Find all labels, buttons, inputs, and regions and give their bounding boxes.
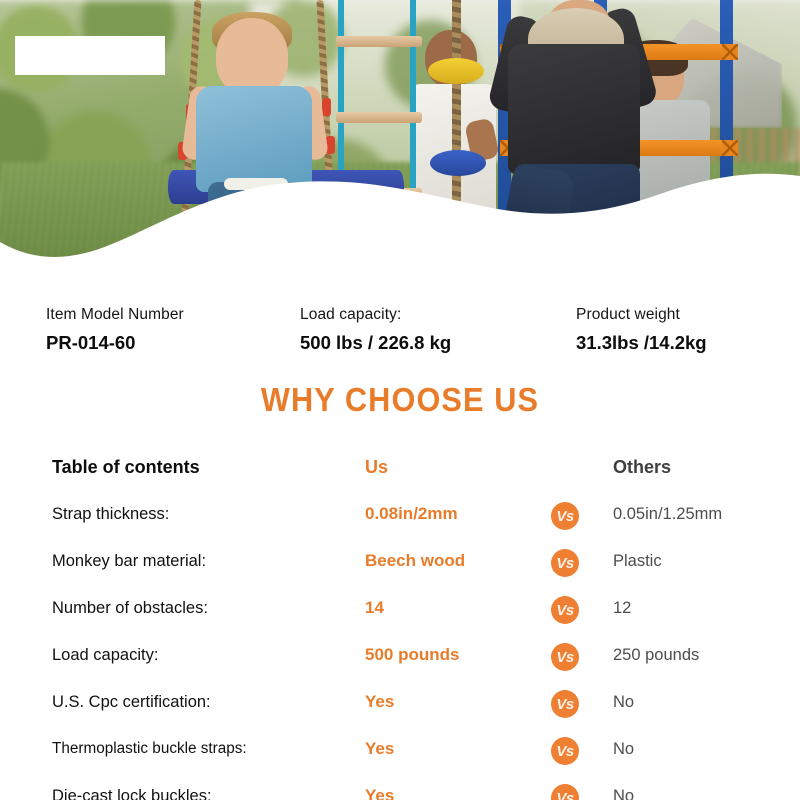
- brand-logo-placeholder: [15, 36, 165, 75]
- vs-badge-label: Vs: [556, 650, 573, 665]
- row-others-value: No: [613, 734, 634, 764]
- spec-summary-row: Item Model Number PR-014-60 Load capacit…: [0, 305, 800, 367]
- row-us-value: Yes: [365, 781, 394, 800]
- hero-product-photo: [0, 0, 800, 272]
- row-label: Number of obstacles:: [52, 593, 208, 623]
- row-label: Monkey bar material:: [52, 546, 206, 576]
- infographic-page: Item Model Number PR-014-60 Load capacit…: [0, 0, 800, 800]
- ladder-rung: [336, 36, 422, 47]
- vs-badge-label: Vs: [556, 697, 573, 712]
- vs-badge-label: Vs: [556, 791, 573, 800]
- table-row: Thermoplastic buckle straps: Yes Vs No: [0, 734, 800, 781]
- spec-value: PR-014-60: [46, 330, 184, 356]
- row-us-value: Yes: [365, 687, 394, 717]
- rope-clip: [322, 98, 331, 116]
- spec-label: Load capacity:: [300, 305, 451, 325]
- swing-boy-head: [216, 18, 288, 96]
- row-label: Strap thickness:: [52, 499, 169, 529]
- spec-item-model-number: Item Model Number PR-014-60: [46, 305, 184, 356]
- comparison-table: Table of contents Us Others Strap thickn…: [0, 452, 800, 800]
- vs-badge-icon: Vs: [551, 549, 579, 577]
- row-label: U.S. Cpc certification:: [52, 687, 211, 717]
- vs-badge-label: Vs: [556, 744, 573, 759]
- vs-badge-icon: Vs: [551, 502, 579, 530]
- vs-badge-icon: Vs: [551, 737, 579, 765]
- row-us-value: 0.08in/2mm: [365, 499, 458, 529]
- table-row: Strap thickness: 0.08in/2mm Vs 0.05in/1.…: [0, 499, 800, 546]
- vs-badge-icon: Vs: [551, 690, 579, 718]
- table-row: U.S. Cpc certification: Yes Vs No: [0, 687, 800, 734]
- table-row: Load capacity: 500 pounds Vs 250 pounds: [0, 640, 800, 687]
- row-us-value: 14: [365, 593, 384, 623]
- climbing-boy-hoodie: [508, 44, 640, 174]
- foothold-disc-yellow: [428, 58, 484, 84]
- vs-badge-label: Vs: [556, 603, 573, 618]
- row-others-value: No: [613, 781, 634, 800]
- wave-divider: [0, 164, 800, 272]
- vs-badge-icon: Vs: [551, 596, 579, 624]
- vs-badge-icon: Vs: [551, 784, 579, 800]
- row-label: Load capacity:: [52, 640, 158, 670]
- row-label: Die-cast lock buckles:: [52, 781, 212, 800]
- column-header-us: Us: [365, 452, 388, 482]
- row-others-value: 0.05in/1.25mm: [613, 499, 722, 529]
- strap-stitch: [722, 44, 738, 60]
- spec-value: 31.3lbs /14.2kg: [576, 330, 707, 356]
- row-us-value: 500 pounds: [365, 640, 459, 670]
- column-header-contents: Table of contents: [52, 452, 200, 482]
- table-row: Monkey bar material: Beech wood Vs Plast…: [0, 546, 800, 593]
- vs-badge-icon: Vs: [551, 643, 579, 671]
- spec-load-capacity: Load capacity: 500 lbs / 226.8 kg: [300, 305, 451, 356]
- vs-badge-label: Vs: [556, 509, 573, 524]
- column-header-others: Others: [613, 452, 671, 482]
- row-others-value: 12: [613, 593, 631, 623]
- table-row: Number of obstacles: 14 Vs 12: [0, 593, 800, 640]
- row-us-value: Beech wood: [365, 546, 465, 576]
- table-header-row: Table of contents Us Others: [0, 452, 800, 499]
- row-others-value: 250 pounds: [613, 640, 699, 670]
- spec-label: Item Model Number: [46, 305, 184, 325]
- table-row: Die-cast lock buckles: Yes Vs No: [0, 781, 800, 800]
- row-others-value: Plastic: [613, 546, 662, 576]
- spec-product-weight: Product weight 31.3lbs /14.2kg: [576, 305, 707, 356]
- why-choose-us-heading: WHY CHOOSE US: [28, 381, 772, 419]
- row-us-value: Yes: [365, 734, 394, 764]
- ladder-rung: [336, 112, 422, 123]
- vs-badge-label: Vs: [556, 556, 573, 571]
- row-label: Thermoplastic buckle straps:: [52, 734, 247, 764]
- row-others-value: No: [613, 687, 634, 717]
- spec-value: 500 lbs / 226.8 kg: [300, 330, 451, 356]
- strap-stitch: [722, 140, 738, 156]
- spec-label: Product weight: [576, 305, 707, 325]
